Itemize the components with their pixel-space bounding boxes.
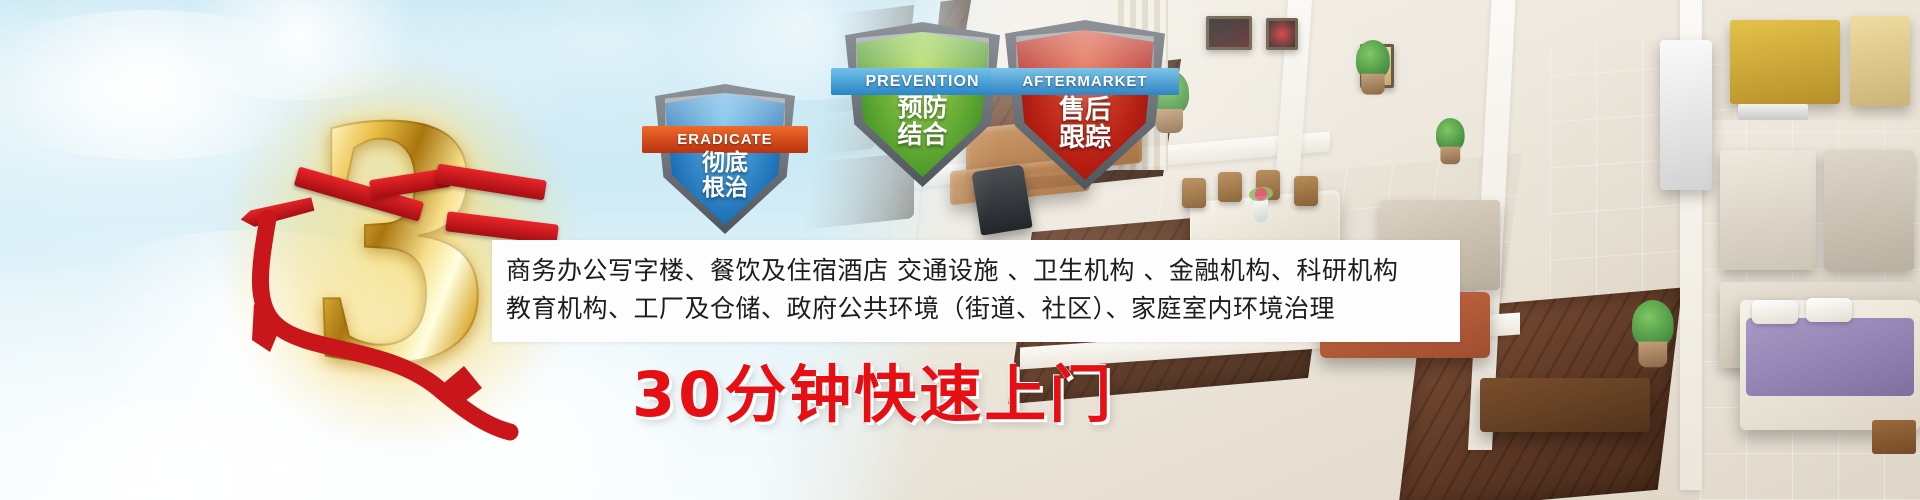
badge-cn-line2: 跟踪 (1005, 123, 1165, 151)
badge-prevention: PREVENTION 预防 结合 (845, 22, 1000, 187)
badge-eradicate: ERADICATE 彻底 根治 (655, 84, 795, 234)
badge-cn-line2: 结合 (845, 122, 1000, 149)
badge-cn-line2: 根治 (655, 175, 795, 200)
promo-banner: 3 ERADICATE 彻底 根治 PREVENTION 预防 结合 (0, 0, 1920, 500)
badge-cn-text: 售后 跟踪 (1005, 95, 1165, 151)
badge-ribbon-label: PREVENTION (831, 68, 1014, 95)
headline-text: 30分钟快速上门 (632, 360, 1114, 430)
badge-cn-line1: 售后 (1005, 95, 1165, 123)
scope-line-1: 商务办公写字楼、餐饮及住宿酒店 交通设施 、卫生机构 、金融机构、科研机构 (506, 252, 1446, 290)
badge-cn-line1: 预防 (845, 95, 1000, 122)
badge-cn-text: 预防 结合 (845, 95, 1000, 149)
scope-line-2: 教育机构、工厂及仓储、政府公共环境（街道、社区）、家庭室内环境治理 (506, 290, 1446, 328)
badge-ribbon-label: AFTERMARKET (991, 68, 1180, 95)
badge-cn-line1: 彻底 (655, 150, 795, 175)
wall-art (1206, 16, 1252, 50)
service-scope-panel: 商务办公写字楼、餐饮及住宿酒店 交通设施 、卫生机构 、金融机构、科研机构 教育… (492, 240, 1460, 342)
badge-aftermarket: AFTERMARKET 售后 跟踪 (1005, 20, 1165, 190)
badge-cn-text: 彻底 根治 (655, 150, 795, 200)
wall-art (1266, 18, 1298, 50)
